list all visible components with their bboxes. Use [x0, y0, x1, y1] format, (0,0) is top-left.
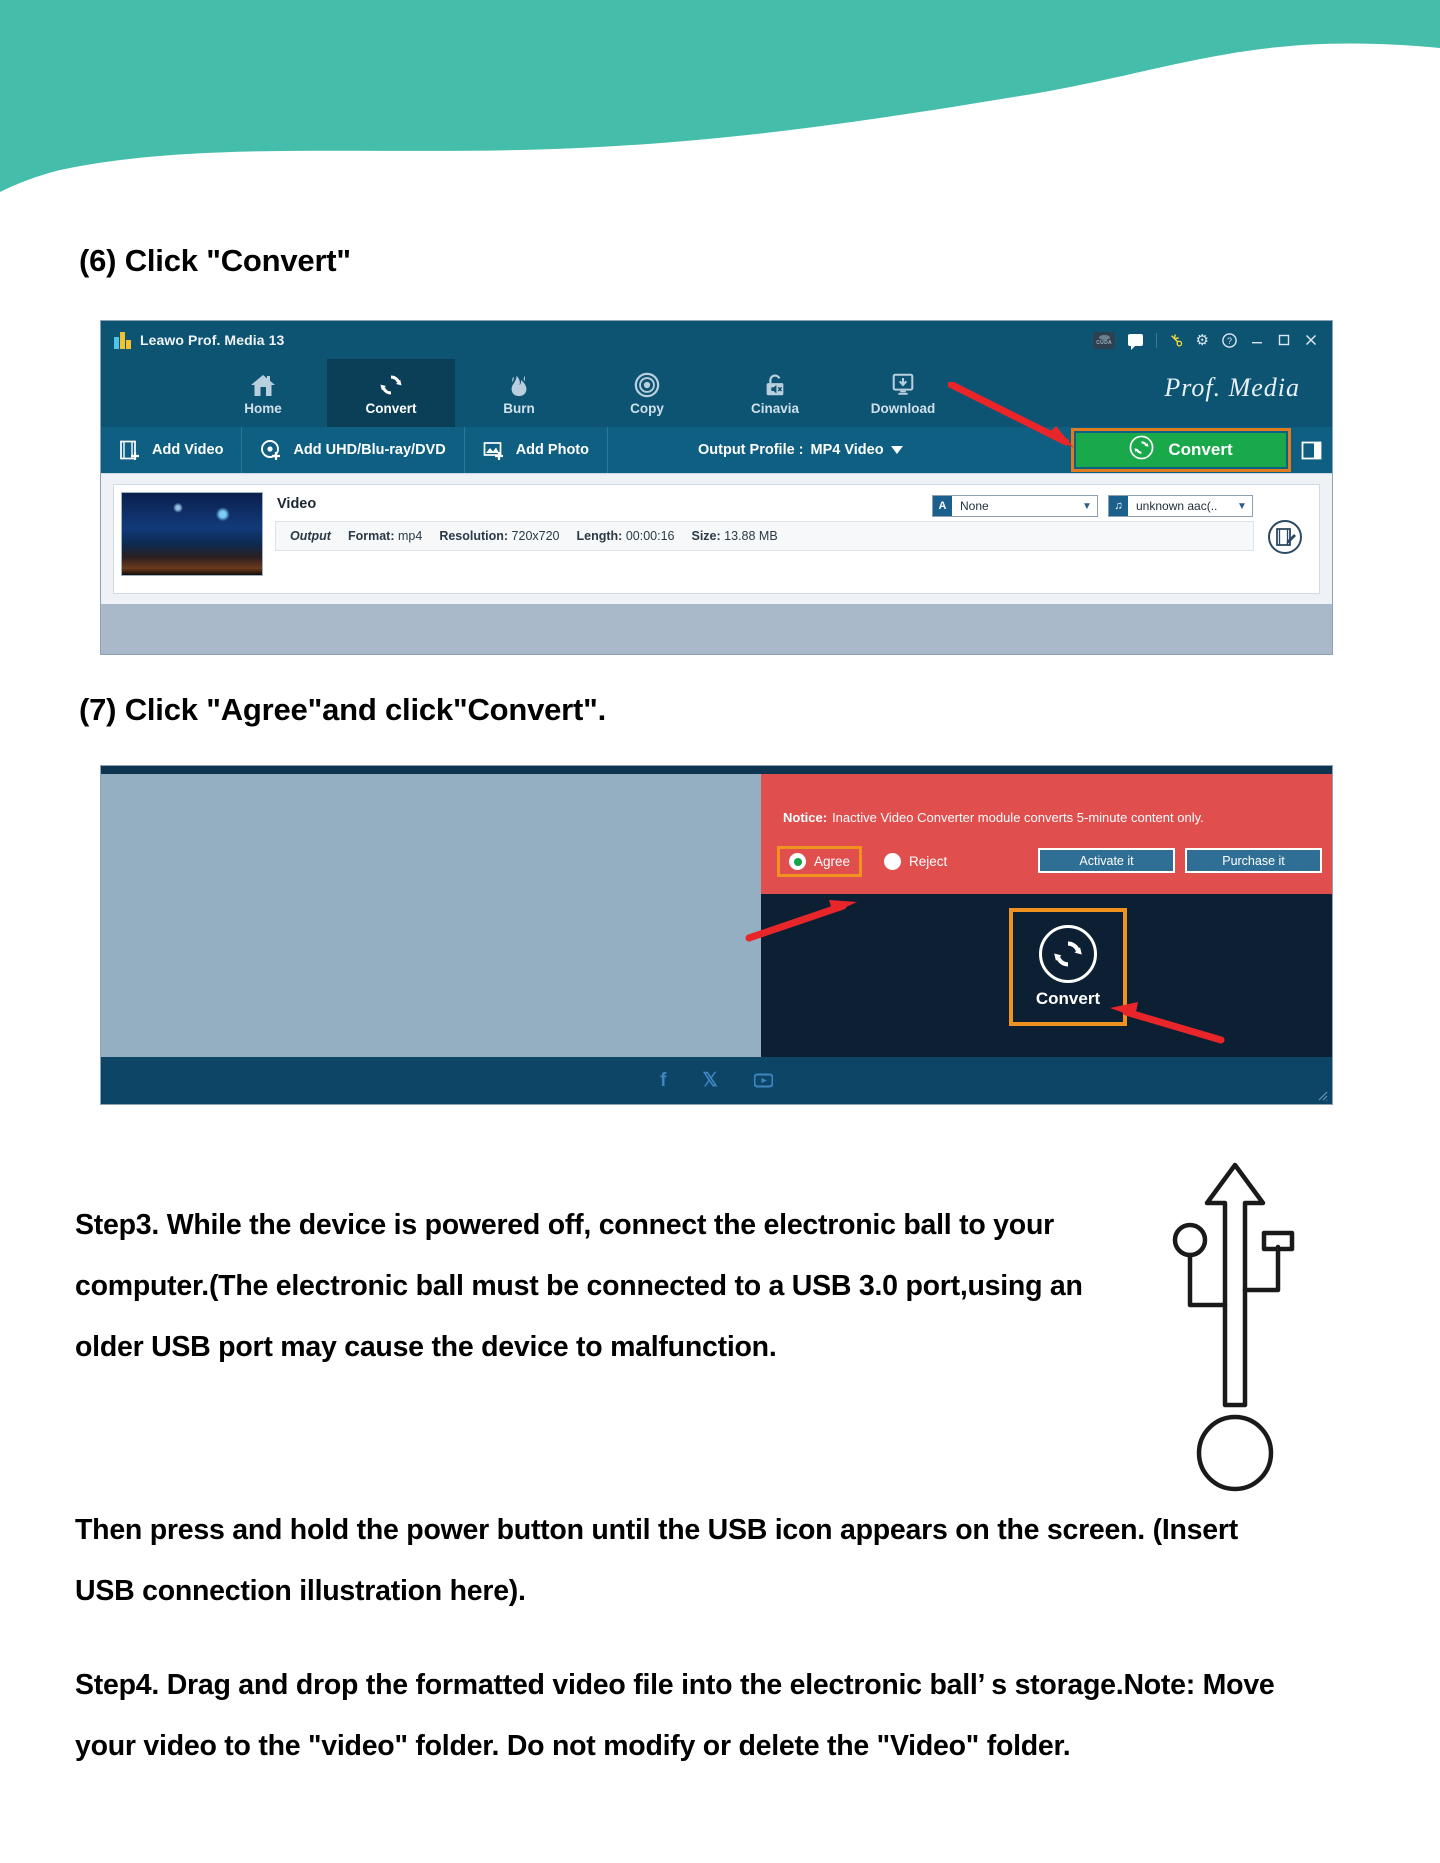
toolbar-divider — [1156, 333, 1157, 348]
convert-button-label: Convert — [1168, 440, 1232, 460]
edit-media-icon[interactable] — [1265, 517, 1305, 562]
youtube-icon[interactable] — [754, 1073, 773, 1088]
meta-length-label: Length: — [577, 529, 623, 543]
nav-label: Copy — [630, 401, 664, 416]
nav-label: Cinavia — [751, 401, 799, 416]
refresh-icon — [377, 370, 405, 398]
leawo-logo-icon — [114, 332, 130, 349]
consent-options: Agree Reject — [777, 846, 947, 877]
add-video-icon — [119, 439, 141, 461]
chevron-down-icon: ▼ — [1232, 501, 1252, 512]
chevron-down-icon — [891, 446, 903, 454]
video-thumbnail — [121, 492, 263, 576]
convert-button-highlight: Convert — [1071, 428, 1291, 472]
subtitle-dropdown[interactable]: A None ▼ — [932, 495, 1098, 517]
decorative-wave-banner — [0, 0, 1440, 200]
audio-note-icon: ♫ — [1109, 496, 1128, 516]
meta-format-value: mp4 — [398, 529, 422, 543]
x-icon[interactable]: 𝕏 — [703, 1069, 718, 1092]
annotation-arrow-convert — [948, 382, 1098, 462]
heading-step-6: (6) Click "Convert" — [79, 243, 351, 279]
help-icon[interactable]: ? — [1222, 333, 1237, 348]
mute-lock-icon — [761, 370, 789, 398]
media-item-row[interactable]: Video Output Format: mp4 Resolution: 720… — [113, 484, 1320, 594]
chevron-down-icon: ▼ — [1077, 501, 1097, 512]
leawo-convert-screenshot: Leawo Prof. Media 13 CUDA ⚷ ⚙ ? — [100, 320, 1333, 655]
house-icon — [249, 370, 277, 398]
audio-value: unknown aac(.. — [1128, 499, 1232, 513]
agree-label: Agree — [814, 854, 850, 869]
meta-size-label: Size: — [692, 529, 721, 543]
preview-pane — [101, 774, 761, 1059]
main-navigation: Home Convert — [101, 359, 1332, 427]
notice-message: Notice:Inactive Video Converter module c… — [783, 810, 1204, 825]
add-photo-button[interactable]: Add Photo — [465, 427, 608, 473]
dialog-footer: f 𝕏 — [101, 1057, 1332, 1104]
nav-item-burn[interactable]: Burn — [455, 359, 583, 427]
purchase-button[interactable]: Purchase it — [1185, 848, 1322, 873]
nav-label: Download — [871, 401, 936, 416]
nav-item-copy[interactable]: Copy — [583, 359, 711, 427]
convert-circle-icon — [1039, 925, 1097, 983]
nav-label: Burn — [503, 401, 535, 416]
svg-text:?: ? — [1227, 336, 1232, 346]
close-icon[interactable] — [1304, 333, 1318, 347]
meta-size-value: 13.88 MB — [724, 529, 778, 543]
notice-body: Inactive Video Converter module converts… — [832, 810, 1204, 825]
annotation-arrow-agree — [745, 892, 875, 947]
reject-option[interactable]: Reject — [884, 853, 947, 870]
reject-radio[interactable] — [884, 853, 901, 870]
add-photo-label: Add Photo — [516, 442, 589, 458]
maximize-icon[interactable] — [1277, 333, 1291, 347]
add-disc-label: Add UHD/Blu-ray/DVD — [293, 442, 445, 458]
brand-script-text: Prof. Media — [1164, 373, 1300, 403]
add-disc-button[interactable]: Add UHD/Blu-ray/DVD — [242, 427, 464, 473]
key-icon[interactable]: ⚷ — [1166, 330, 1187, 351]
heading-step-7: (7) Click "Agree"and click"Convert". — [79, 692, 606, 728]
usb-illustration-icon — [1160, 1155, 1310, 1515]
cuda-badge-icon: CUDA — [1093, 332, 1115, 349]
panel-toggle-icon[interactable] — [1301, 440, 1322, 461]
nav-item-cinavia[interactable]: Cinavia — [711, 359, 839, 427]
nav-item-home[interactable]: Home — [199, 359, 327, 427]
agree-radio[interactable] — [789, 853, 806, 870]
meta-output-label: Output — [290, 529, 331, 543]
output-profile-selector[interactable]: Output Profile : MP4 Video — [698, 442, 903, 458]
output-profile-value: MP4 Video — [811, 442, 884, 458]
paragraph-step3: Step3. While the device is powered off, … — [75, 1195, 1135, 1378]
reject-label: Reject — [909, 854, 947, 869]
chat-icon[interactable] — [1128, 334, 1143, 346]
subtitle-icon: A — [933, 496, 952, 516]
notice-banner: Notice:Inactive Video Converter module c… — [761, 774, 1333, 894]
notice-prefix: Notice: — [783, 810, 827, 825]
gear-icon[interactable]: ⚙ — [1196, 333, 1209, 348]
convert-button[interactable]: Convert — [1076, 433, 1286, 467]
nav-label: Home — [244, 401, 282, 416]
download-icon — [889, 370, 917, 398]
add-photo-icon — [483, 439, 505, 461]
meta-resolution-value: 720x720 — [512, 529, 560, 543]
meta-format-label: Format: — [348, 529, 395, 543]
app-title-text: Leawo Prof. Media 13 — [140, 332, 284, 348]
output-profile-label: Output Profile : — [698, 442, 804, 458]
nav-item-convert[interactable]: Convert — [327, 359, 455, 427]
annotation-arrow-convert-2 — [1090, 1000, 1225, 1050]
meta-length-value: 00:00:16 — [626, 529, 675, 543]
audio-dropdown[interactable]: ♫ unknown aac(.. ▼ — [1108, 495, 1253, 517]
activate-button[interactable]: Activate it — [1038, 848, 1175, 873]
subtitle-value: None — [952, 499, 1077, 513]
media-list-area: Video Output Format: mp4 Resolution: 720… — [101, 473, 1332, 604]
paragraph-step3b: Then press and hold the power button unt… — [75, 1500, 1255, 1622]
nav-label: Convert — [365, 401, 416, 416]
action-toolbar: Add Video Add UHD/Blu-ray/DVD — [101, 427, 1332, 473]
notice-dialog-screenshot: Notice:Inactive Video Converter module c… — [100, 765, 1333, 1105]
add-video-button[interactable]: Add Video — [101, 427, 242, 473]
facebook-icon[interactable]: f — [660, 1070, 666, 1092]
add-disc-icon — [260, 439, 282, 461]
app-title-bar: Leawo Prof. Media 13 CUDA ⚷ ⚙ ? — [101, 321, 1332, 359]
convert-circle-icon — [1129, 435, 1154, 465]
resize-grip-icon[interactable] — [1316, 1088, 1328, 1100]
media-item-metadata: Output Format: mp4 Resolution: 720x720 L… — [275, 521, 1254, 551]
flame-icon — [505, 370, 533, 398]
dialog-top-strip — [101, 766, 1332, 774]
meta-resolution-label: Resolution: — [439, 529, 508, 543]
agree-option-highlight[interactable]: Agree — [777, 846, 862, 877]
minimize-icon[interactable] — [1250, 333, 1264, 347]
disc-icon — [633, 370, 661, 398]
page-root: (6) Click "Convert" Leawo Prof. Media 13… — [0, 0, 1440, 1863]
add-video-label: Add Video — [152, 442, 223, 458]
paragraph-step4: Step4. Drag and drop the formatted video… — [75, 1655, 1305, 1777]
